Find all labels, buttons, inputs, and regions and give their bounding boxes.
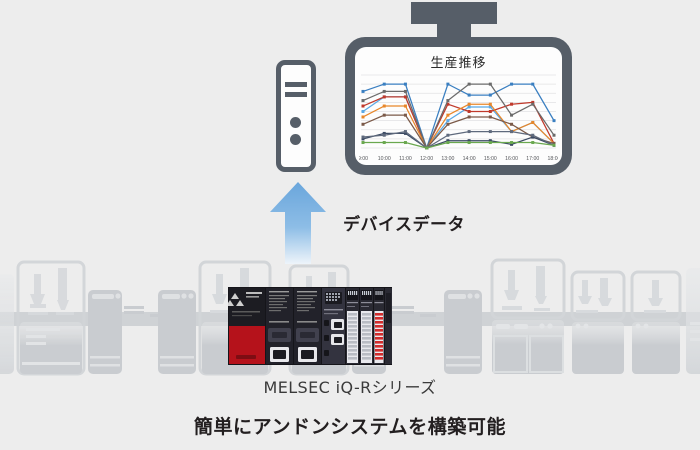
tower-indicator-led [290, 134, 301, 145]
chart-data-point [404, 130, 407, 133]
chart-data-point [510, 123, 513, 126]
melsec-iq-r-plc-rack [228, 287, 392, 365]
chart-data-point [362, 136, 365, 139]
chart-data-point [383, 83, 386, 86]
chart-data-point [489, 115, 492, 118]
chart-data-point [510, 114, 513, 117]
chart-data-point [362, 110, 365, 113]
chart-data-point [510, 130, 513, 133]
chart-data-point [383, 95, 386, 98]
arrow-shape [270, 182, 326, 264]
chart-data-point [446, 83, 449, 86]
chart-data-point [362, 90, 365, 93]
chart-data-point [531, 141, 534, 144]
chart-data-point [510, 83, 513, 86]
chart-data-point [446, 119, 449, 122]
monitor-screen: 生産推移 9:0010:0011:0012:0013:0014:0015:001… [355, 47, 562, 165]
chart-data-point [362, 105, 365, 108]
chart-data-point [468, 110, 471, 113]
chart-x-tick-label: 14:00 [463, 156, 476, 162]
chart-data-point [362, 123, 365, 126]
chart-data-point [404, 114, 407, 117]
monitor-bezel: 生産推移 9:0010:0011:0012:0013:0014:0015:001… [345, 37, 572, 175]
chart-x-tick-label: 18:00 [548, 156, 558, 162]
chart-data-point [446, 114, 449, 117]
chart-data-point [404, 90, 407, 93]
illustration-canvas: 生産推移 9:0010:0011:0012:0013:0014:0015:001… [0, 0, 700, 450]
chart-data-point [489, 141, 492, 144]
chart-data-point [553, 144, 556, 147]
chart-data-point [553, 119, 556, 122]
chart-data-point [446, 99, 449, 102]
arrow-svg [268, 182, 328, 264]
chart-x-tick-label: 15:00 [484, 156, 497, 162]
chart-data-point [446, 134, 449, 137]
device-data-label: デバイスデータ [343, 210, 465, 235]
chart-data-point [404, 105, 407, 108]
chart-data-point [446, 141, 449, 144]
chart-data-point [531, 83, 534, 86]
headline-text: 簡単にアンドンシステムを構築可能 [0, 412, 700, 439]
chart-svg: 9:0010:0011:0012:0013:0014:0015:0016:001… [359, 72, 558, 164]
chart-x-tick-label: 16:00 [505, 156, 518, 162]
chart-data-point [531, 121, 534, 124]
chart-data-point [425, 147, 428, 150]
chart-series-line [363, 143, 554, 148]
chart-x-tick-label: 13:00 [441, 156, 454, 162]
plc-svg [228, 287, 392, 365]
wall-mounted-monitor: 生産推移 9:0010:0011:0012:0013:0014:0015:001… [345, 0, 577, 180]
chart-data-point [404, 141, 407, 144]
production-line-chart: 9:0010:0011:0012:0013:0014:0015:0016:001… [359, 72, 558, 164]
tower-shell [276, 60, 316, 172]
chart-series-line [363, 84, 554, 148]
chart-data-point [383, 134, 386, 137]
chart-x-tick-label: 11:00 [399, 156, 412, 162]
chart-data-point [510, 141, 513, 144]
monitor-mount-bar [411, 2, 497, 24]
chart-series-line [363, 84, 554, 148]
chart-data-point [383, 105, 386, 108]
tower-drive-bay-2 [285, 92, 307, 97]
pc-tower-icon [276, 60, 316, 172]
chart-title: 生産推移 [355, 52, 562, 71]
chart-data-point [489, 110, 492, 113]
chart-data-point [362, 141, 365, 144]
chart-data-point [446, 123, 449, 126]
chart-data-point [489, 83, 492, 86]
chart-data-point [531, 134, 534, 137]
chart-series-line [363, 133, 554, 148]
chart-data-point [468, 115, 471, 118]
chart-data-point [468, 103, 471, 106]
chart-data-point [468, 83, 471, 86]
upward-data-flow-arrow [268, 182, 328, 264]
chart-data-point [531, 103, 534, 106]
chart-data-point [468, 130, 471, 133]
chart-x-tick-label: 9:00 [359, 156, 368, 162]
chart-data-point [510, 103, 513, 106]
chart-x-tick-label: 10:00 [378, 156, 391, 162]
tower-drive-bay-1 [285, 82, 307, 87]
chart-data-point [489, 94, 492, 97]
chart-data-point [362, 115, 365, 118]
chart-series-line [363, 104, 554, 148]
product-series-label: MELSEC iQ-Rシリーズ [0, 374, 700, 398]
chart-data-point [553, 134, 556, 137]
chart-x-tick-label: 17:00 [526, 156, 539, 162]
chart-data-point [383, 141, 386, 144]
chart-data-point [489, 130, 492, 133]
chart-data-point [468, 141, 471, 144]
chart-data-point [468, 105, 471, 108]
chart-data-point [404, 83, 407, 86]
chart-data-point [468, 94, 471, 97]
chart-x-tick-label: 12:00 [420, 156, 433, 162]
chart-data-point [383, 114, 386, 117]
tower-power-button [290, 117, 301, 128]
chart-data-point [362, 99, 365, 102]
chart-data-point [489, 103, 492, 106]
chart-data-point [383, 90, 386, 93]
